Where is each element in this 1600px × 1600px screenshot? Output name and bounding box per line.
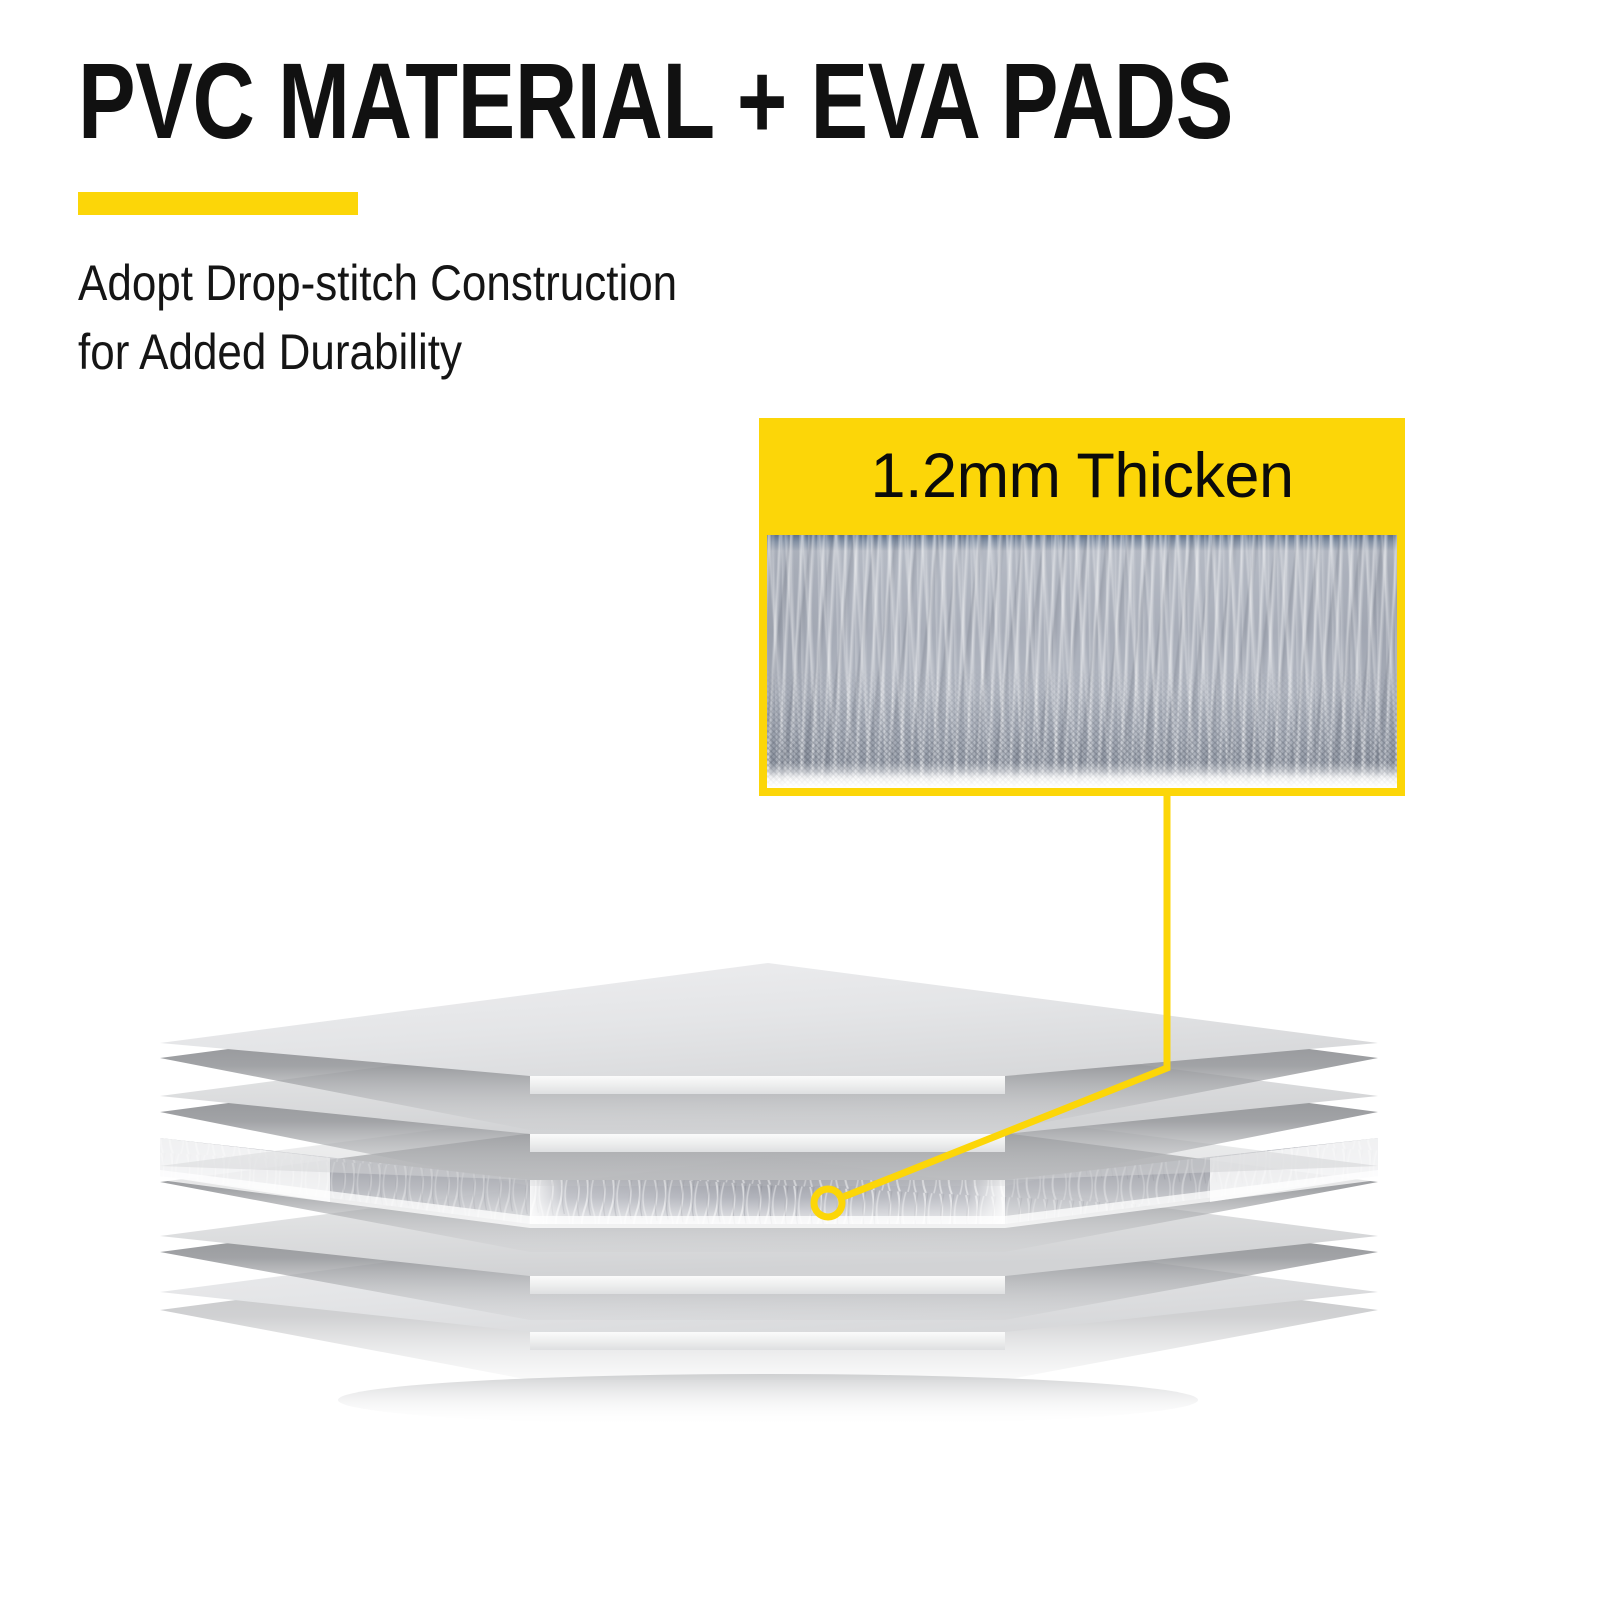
page-title: PVC MATERIAL + EVA PADS (78, 47, 1233, 155)
accent-bar (78, 192, 358, 215)
drop-stitch-photo (767, 535, 1397, 788)
thickness-callout: 1.2mm Thicken (759, 418, 1405, 796)
photo-bottom-highlight (767, 762, 1397, 788)
ground-shadow (338, 1374, 1198, 1426)
page-subtitle: Adopt Drop-stitch Construction for Added… (78, 249, 677, 387)
header-section: PVC MATERIAL + EVA PADS Adopt Drop-stitc… (0, 0, 1600, 400)
layer-stack-illustration (0, 880, 1600, 1480)
callout-label: 1.2mm Thicken (767, 418, 1397, 535)
